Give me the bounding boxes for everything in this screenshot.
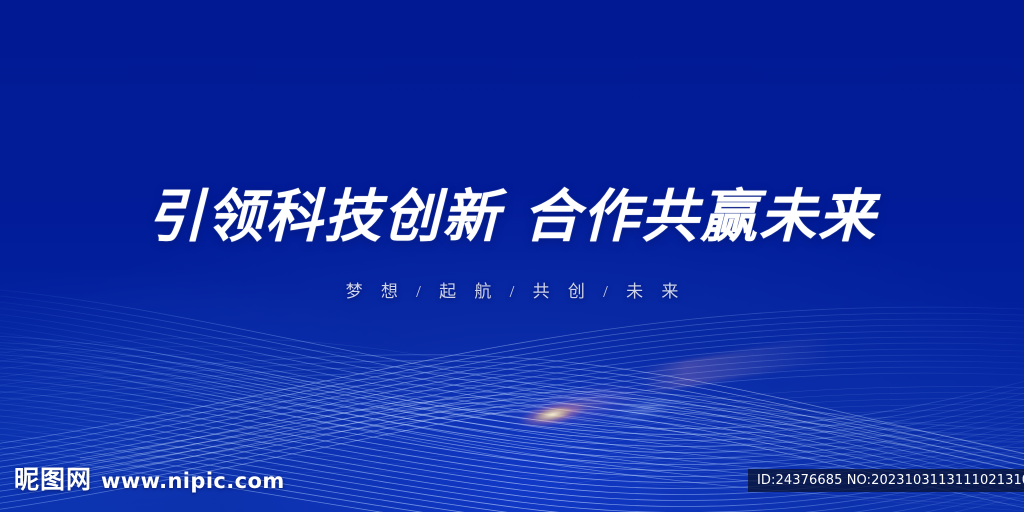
wave-mesh-decoration <box>0 0 1024 512</box>
id-badge: ID:24376685 NO:20231031131110213105 <box>748 469 1024 492</box>
headline-part-1: 引领科技创新 <box>147 186 501 249</box>
headline-part-2: 合作共赢未来 <box>523 186 877 249</box>
banner-canvas: 引领科技创新合作共赢未来 梦 想 / 起 航 / 共 创 / 未 来 昵图网 w… <box>0 0 1024 512</box>
watermark-site-url: www.nipic.com <box>101 468 285 494</box>
watermark: 昵图网 www.nipic.com <box>14 466 285 494</box>
subtitle: 梦 想 / 起 航 / 共 创 / 未 来 <box>0 280 1024 304</box>
headline: 引领科技创新合作共赢未来 <box>0 186 1024 250</box>
watermark-site-name: 昵图网 <box>14 466 92 494</box>
